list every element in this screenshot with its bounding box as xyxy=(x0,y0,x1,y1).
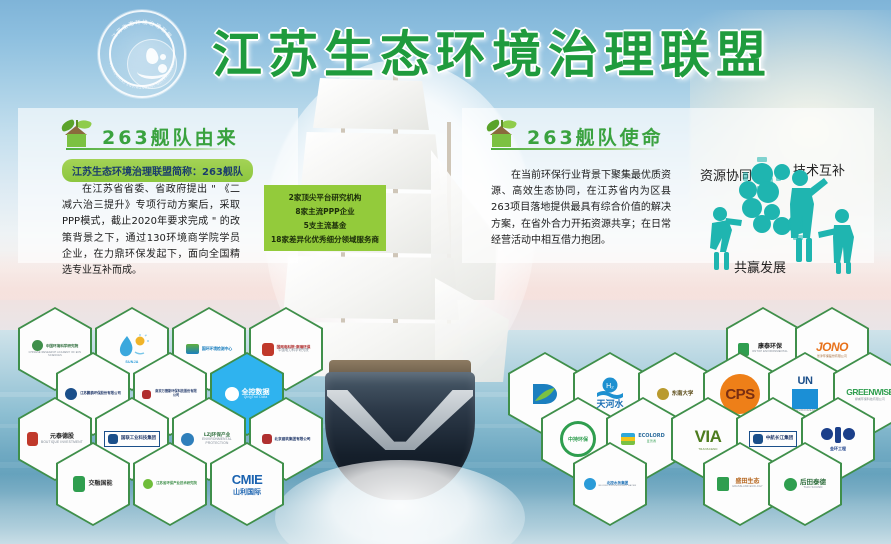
logo-row: 中国环境科学研究院 xyxy=(32,340,78,351)
member-logo: 国环环境检测中心 xyxy=(181,344,237,354)
logo-text-group: 全控数据QingTrol Data xyxy=(242,388,270,400)
logo-mark-icon xyxy=(753,434,763,444)
logo-text-group: 康泰环保ONTOP ENVIRONMENTAL xyxy=(752,344,788,354)
logo-subtext: CHINESE RESEARCH ACADEMY OF ENV SCIENCES xyxy=(27,352,83,357)
mission-section-header: 263舰队使命 xyxy=(487,118,664,148)
poster-canvas: 江苏生态环境治理联盟 ECOLOGICAL ENVIRONMENT GOVERN… xyxy=(0,0,891,544)
logo-subtext: 爱普香 xyxy=(638,440,665,443)
gear-icon xyxy=(753,215,771,233)
member-logo: LZJ环保产业ENVIRONMENTAL PROTECTION xyxy=(181,433,237,446)
page-title: 江苏生态环境治理联盟 xyxy=(212,15,772,87)
member-logo: JONO景津环保股份有限公司 xyxy=(804,340,860,358)
member-logo: 江苏鹏鹞环保股份有限公司 xyxy=(65,388,121,400)
logo-mark-icon xyxy=(108,434,118,444)
member-logo: 中航长江集团 xyxy=(743,431,803,447)
logo-subtext: BOUTIQUE INVESTMENT xyxy=(41,441,83,445)
abstract-link-icon xyxy=(820,426,856,446)
logo-mark-icon xyxy=(186,344,199,354)
logo-text: 中持环保 xyxy=(568,436,588,443)
logo-text-group: 后田泰德TIAN SOUND xyxy=(800,479,826,490)
logo-subtext: 山利国际 xyxy=(233,488,261,496)
member-logo: 北控水务集团BEIJING ENTERPRISES WATER xyxy=(582,478,638,490)
logo-subtext: ONTOP ENVIRONMENTAL xyxy=(752,351,788,354)
logo-text: VIA xyxy=(695,427,722,447)
mission-body-text: 在当前环保行业背景下聚集最优质资源、高效生态协同，在江苏省内为区县263项目落地… xyxy=(491,168,671,249)
gears-and-people-icon xyxy=(700,152,880,282)
origin-section-rule xyxy=(66,148,236,150)
logo-text: 金环工程 xyxy=(830,447,846,452)
logo-mark-icon xyxy=(65,388,77,400)
logo-text: SUNJA xyxy=(125,361,138,365)
person-left-icon xyxy=(710,207,742,270)
member-hex-face: 北控水务集团BEIJING ENTERPRISES WATER xyxy=(575,444,645,524)
logo-text: GREENWISE xyxy=(846,387,891,397)
person-center-icon xyxy=(790,170,828,262)
logo-text: CMIE xyxy=(232,472,263,487)
composition-line: 8家主流PPP企业 xyxy=(295,206,354,217)
logo-subtext: TIAN SOUND xyxy=(800,486,826,489)
member-hex-face: 交融国能 xyxy=(58,444,128,524)
member-logo: 交融国能 xyxy=(65,476,121,492)
wave-icon xyxy=(137,64,167,79)
logo-row: 北控水务集团BEIJING ENTERPRISES WATER xyxy=(584,478,637,490)
member-hex-face: 后田泰德TIAN SOUND xyxy=(770,444,840,524)
green-ring-icon: 中持环保 xyxy=(560,421,596,457)
logo-text: 东南大学 xyxy=(672,391,694,397)
logo-row: 国联工业科技集团 xyxy=(104,431,160,447)
composition-line: 18家差异化优秀细分领域服务商 xyxy=(271,234,379,245)
member-logo: VIATRANSCEND xyxy=(680,427,736,451)
member-hex-face: CMIE山利国际 xyxy=(212,444,282,524)
logo-mark-icon xyxy=(657,388,669,400)
member-logo: 南京万德斯环保科技股份有限公司 xyxy=(142,390,198,399)
logo-text: 北京建筑集团有限公司 xyxy=(275,437,311,441)
logo-row: 交融国能 xyxy=(73,476,112,492)
sprout-house-icon xyxy=(62,118,92,148)
member-logo: 金环工程 xyxy=(810,426,866,452)
member-logo: SUNJA xyxy=(104,334,160,365)
gear-icon xyxy=(739,181,757,199)
water-drop-icon xyxy=(144,47,159,65)
logo-row: 北京建筑集团有限公司 xyxy=(262,434,311,444)
logo-text: 中国环境科学研究院 xyxy=(46,344,78,348)
seal-inner-ring xyxy=(109,21,175,87)
teamwork-gear-graphic xyxy=(700,152,880,282)
logo-mark-icon xyxy=(143,479,153,489)
mission-section-title: 263舰队使命 xyxy=(527,129,664,148)
member-logo: 江苏省环保产业技术研究院 xyxy=(142,479,198,489)
sprout-house-icon xyxy=(487,118,517,148)
logo-row: 元泰德股BOUTIQUE INVESTMENT xyxy=(27,432,83,446)
member-logo: 后田泰德TIAN SOUND xyxy=(777,478,833,491)
logo-subtext: BEIJING ENTERPRISES WATER xyxy=(599,485,637,487)
logo-text-group: 北控水务集团BEIJING ENTERPRISES WATER xyxy=(599,481,637,488)
member-logo: GREENWISE绿威环保科技有限公司 xyxy=(842,387,891,401)
member-logo: 盛田生态GRASSLAND ECOLOGY xyxy=(712,477,768,491)
logo-mark-icon xyxy=(225,387,239,401)
logo-subtext: TRANSCEND xyxy=(698,448,717,451)
logo-text-group: ECOLORD爱普香 xyxy=(638,434,665,443)
logo-mark-icon xyxy=(784,478,797,491)
logo-row: 江苏鹏鹞环保股份有限公司 xyxy=(65,388,121,400)
logo-row: 全控数据QingTrol Data xyxy=(225,387,270,401)
logo-subtext: 中国电力科学研究院 xyxy=(277,349,311,353)
member-logo: 元泰德股BOUTIQUE INVESTMENT xyxy=(27,432,83,446)
svg-text:H₂: H₂ xyxy=(606,383,614,390)
member-logo: 北京建筑集团有限公司 xyxy=(258,434,314,444)
logo-mark-icon xyxy=(262,343,274,356)
logo-row: 南京万德斯环保科技股份有限公司 xyxy=(142,390,198,399)
logo-subtext: 景津环保股份有限公司 xyxy=(817,355,847,358)
member-logo: 全控数据QingTrol Data xyxy=(216,387,278,401)
logo-row: 东南大学 xyxy=(657,388,694,400)
composition-line: 2家顶尖平台研究机构 xyxy=(289,192,362,203)
ship-sail xyxy=(301,132,441,190)
ship-wake-foam xyxy=(275,460,525,544)
logo-text-group: LZJ环保产业ENVIRONMENTAL PROTECTION xyxy=(197,433,237,445)
logo-text: 江苏鹏鹞环保股份有限公司 xyxy=(80,392,121,396)
mission-section-rule xyxy=(491,148,661,150)
logo-row: 后田泰德TIAN SOUND xyxy=(784,478,826,491)
logo-text: 江苏省环保产业技术研究院 xyxy=(156,482,197,486)
origin-section-header: 263舰队由来 xyxy=(62,118,239,148)
logo-row: 康泰环保ONTOP ENVIRONMENTAL xyxy=(738,343,788,356)
logo-mark-icon xyxy=(584,478,596,490)
logo-mark-icon xyxy=(32,340,43,351)
gear-icon xyxy=(742,198,762,218)
logo-mark-icon xyxy=(27,432,38,446)
logo-row: LZJ环保产业ENVIRONMENTAL PROTECTION xyxy=(181,433,237,446)
member-hex-face: 盛田生态GRASSLAND ECOLOGY xyxy=(705,444,775,524)
seal-emblem-field xyxy=(127,39,177,89)
logo-text: 交融国能 xyxy=(88,481,112,488)
member-logo xyxy=(517,381,573,407)
logo-mark-icon xyxy=(717,477,729,491)
logo-text: CPS xyxy=(725,386,754,403)
logo-row: 国网电科院·南瑞环保中国电力科学研究院 xyxy=(262,343,311,356)
logo-text: 国环环境检测中心 xyxy=(202,347,232,351)
member-logo: 国网电科院·南瑞环保中国电力科学研究院 xyxy=(258,343,314,356)
logo-text-group: 盛田生态GRASSLAND ECOLOGY xyxy=(732,479,763,489)
composition-line: 5支主流基金 xyxy=(304,220,347,231)
logo-row: 国环环境检测中心 xyxy=(186,344,232,354)
member-logo: 中国环境科学研究院CHINESE RESEARCH ACADEMY OF ENV… xyxy=(27,340,83,357)
house-icon xyxy=(492,134,511,147)
composition-summary-box: 2家顶尖平台研究机构 8家主流PPP企业 5支主流基金 18家差异化优秀细分领域… xyxy=(264,185,386,251)
alliance-seal-logo: 江苏生态环境治理联盟 ECOLOGICAL ENVIRONMENT GOVERN… xyxy=(98,10,186,98)
logo-subtext: GRASSLAND ECOLOGY xyxy=(732,486,763,489)
logo-mark-icon xyxy=(73,476,85,492)
member-hex-face: 江苏省环保产业技术研究院 xyxy=(135,444,205,524)
member-logo: ECOLORD爱普香 xyxy=(615,433,671,445)
logo-text: UN xyxy=(798,375,813,387)
logo-text: 天河水 xyxy=(596,400,623,410)
poster-header: 江苏生态环境治理联盟 ECOLOGICAL ENVIRONMENT GOVERN… xyxy=(0,0,891,98)
origin-body-text: 在江苏省省委、省政府提出 " 《二减六治三提升》专项行动方案后，采取PPP模式，… xyxy=(62,182,240,279)
logo-text: 中航长江集团 xyxy=(766,436,794,441)
person-right-icon xyxy=(818,209,854,274)
member-logo: 东南大学 xyxy=(647,388,703,400)
logo-mark-icon xyxy=(621,433,635,445)
water-wave-icon: H₂ xyxy=(595,377,625,399)
house-icon xyxy=(67,134,86,147)
logo-text: 南京万德斯环保科技股份有限公司 xyxy=(154,390,198,397)
logo-row: 盛田生态GRASSLAND ECOLOGY xyxy=(717,477,763,491)
logo-row: ECOLORD爱普香 xyxy=(621,433,665,445)
logo-text-group: 元泰德股BOUTIQUE INVESTMENT xyxy=(41,434,83,444)
origin-section-title: 263舰队由来 xyxy=(102,129,239,148)
un-block xyxy=(792,389,818,409)
logo-mark-icon xyxy=(142,390,151,399)
seal-dot-icon xyxy=(160,54,166,60)
gear-icon xyxy=(757,181,779,203)
waterdrop-sun-icon xyxy=(115,334,149,360)
logo-text-group: 国网电科院·南瑞环保中国电力科学研究院 xyxy=(277,345,311,353)
member-logo: CMIE山利国际 xyxy=(219,472,275,496)
logo-mark-icon xyxy=(181,433,194,446)
logo-subtext: ENVIRONMENTAL PROTECTION xyxy=(197,438,237,445)
logo-row: 中航长江集团 xyxy=(749,431,798,447)
member-logo: 国联工业科技集团 xyxy=(102,431,162,447)
alliance-alias-tag: 江苏生态环境治理联盟简称：263舰队 xyxy=(62,159,253,182)
logo-text: 国联工业科技集团 xyxy=(121,436,156,441)
logo-subtext: 绿威环保科技有限公司 xyxy=(855,398,885,401)
logo-text: JONO xyxy=(816,340,848,354)
member-logo: 康泰环保ONTOP ENVIRONMENTAL xyxy=(735,343,791,356)
letter-d-leaf-icon xyxy=(529,381,561,407)
logo-row: 江苏省环保产业技术研究院 xyxy=(143,479,197,489)
logo-mark-icon xyxy=(262,434,272,444)
logo-subtext: QingTrol Data xyxy=(242,396,270,400)
